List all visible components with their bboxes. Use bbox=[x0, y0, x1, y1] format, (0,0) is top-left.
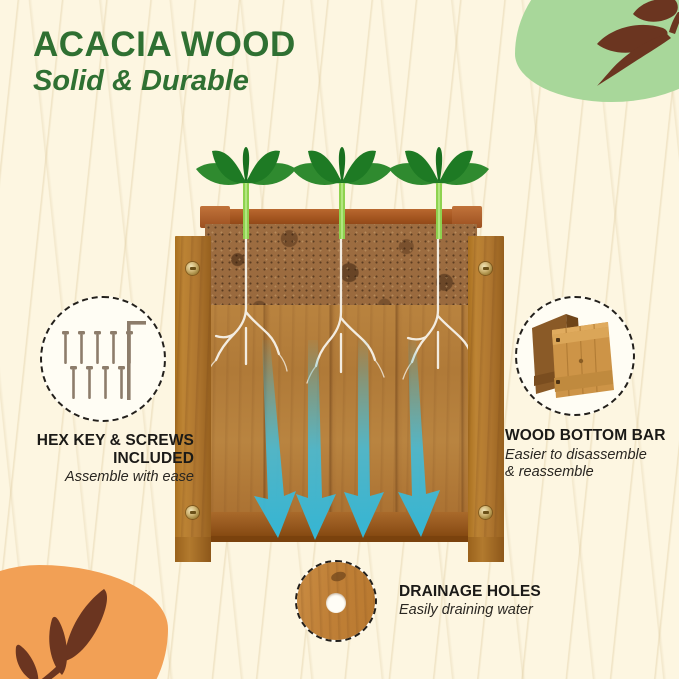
feature-wood-bottom-bar-text: WOOD BOTTOM BAR Easier to disassemble & … bbox=[505, 427, 677, 481]
headline-block: ACACIA WOOD Solid & Durable bbox=[33, 26, 296, 98]
feature-hex-key-title-line1: HEX KEY & SCREWS bbox=[12, 432, 194, 450]
screws-and-hex-key-icon bbox=[57, 316, 149, 402]
planter-front-panel bbox=[205, 305, 477, 525]
planter-box-illustration bbox=[150, 200, 531, 560]
feature-wood-bottom-bar-subtitle-line1: Easier to disassemble bbox=[505, 447, 677, 464]
drainage-hole bbox=[326, 593, 346, 613]
feature-hex-key-screws: HEX KEY & SCREWS INCLUDED Assemble with … bbox=[12, 296, 202, 486]
feature-hex-key-subtitle: Assemble with ease bbox=[12, 469, 194, 486]
wood-bottom-bar-icon-circle bbox=[515, 296, 635, 416]
planter-foot-left bbox=[175, 537, 211, 562]
feature-wood-bottom-bar-title: WOOD BOTTOM BAR bbox=[505, 427, 677, 445]
screw-top-left-icon bbox=[186, 262, 199, 275]
planter-bottom-lip bbox=[202, 536, 480, 542]
feature-drainage-holes: DRAINAGE HOLES Easily draining water bbox=[295, 560, 625, 642]
disassembled-wood-panels-icon bbox=[522, 306, 628, 406]
headline-primary: ACACIA WOOD bbox=[33, 26, 296, 63]
wood-disc-with-hole-icon bbox=[297, 562, 375, 640]
feature-drainage-title: DRAINAGE HOLES bbox=[399, 583, 541, 601]
feature-wood-bottom-bar-subtitle-line2: & reassemble bbox=[505, 464, 677, 481]
infographic-page: ACACIA WOOD Solid & Durable bbox=[0, 0, 679, 679]
feature-drainage-text: DRAINAGE HOLES Easily draining water bbox=[399, 583, 541, 620]
planter-bottom-rail bbox=[202, 512, 480, 538]
hex-key-screws-icon-circle bbox=[40, 296, 166, 422]
feature-drainage-subtitle: Easily draining water bbox=[399, 602, 541, 619]
planter-corner-post-right bbox=[468, 236, 504, 548]
top-right-green-blob bbox=[515, 0, 679, 102]
bottom-left-orange-blob bbox=[0, 565, 168, 679]
planter-foot-right bbox=[468, 537, 504, 562]
drainage-holes-icon-circle bbox=[295, 560, 377, 642]
feature-hex-key-text: HEX KEY & SCREWS INCLUDED Assemble with … bbox=[12, 432, 202, 486]
wood-knot bbox=[330, 570, 347, 583]
headline-secondary: Solid & Durable bbox=[33, 65, 296, 97]
seedling-3 bbox=[385, 147, 493, 239]
seedling-2 bbox=[288, 147, 396, 239]
screw-bottom-left-icon bbox=[186, 506, 199, 519]
feature-hex-key-title-line2: INCLUDED bbox=[12, 450, 194, 468]
screw-top-right-icon bbox=[479, 262, 492, 275]
feature-wood-bottom-bar: WOOD BOTTOM BAR Easier to disassemble & … bbox=[505, 296, 677, 481]
seedling-1 bbox=[192, 147, 300, 239]
screw-bottom-right-icon bbox=[479, 506, 492, 519]
